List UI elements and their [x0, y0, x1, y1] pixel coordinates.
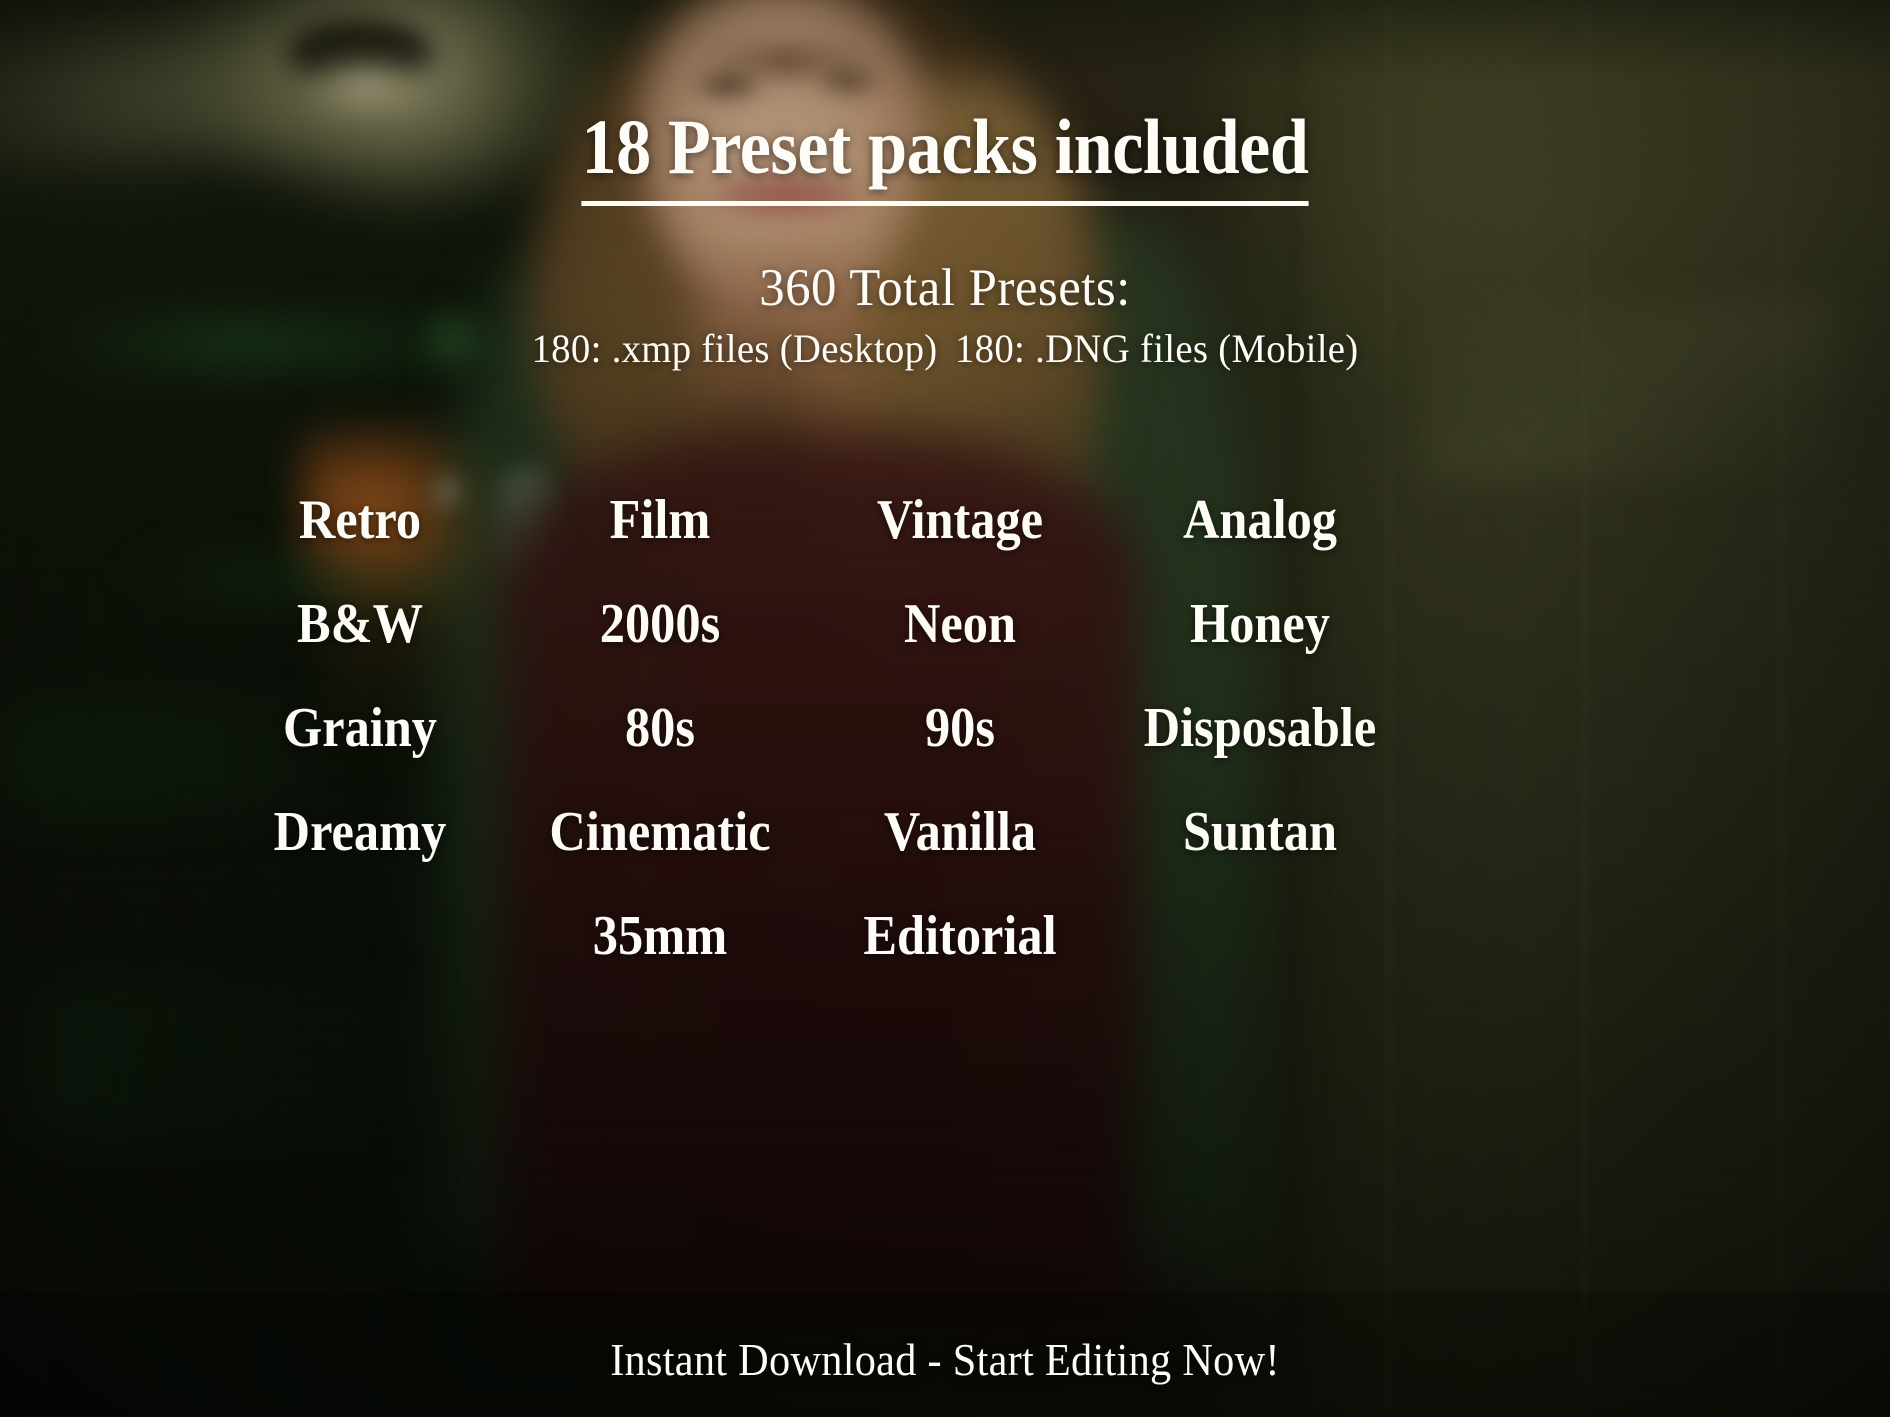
preset-name: 35mm: [525, 908, 795, 964]
preset-name: Suntan: [1125, 804, 1395, 860]
page-title: 18 Preset packs included: [95, 108, 1796, 186]
preset-name: 90s: [825, 700, 1095, 756]
preset-name: Dreamy: [225, 804, 495, 860]
preset-name: Honey: [1125, 596, 1395, 652]
preset-promo-slide: 18 Preset packs included 360 Total Prese…: [0, 0, 1890, 1417]
preset-row: Retro Film Vintage Analog: [210, 468, 1410, 572]
preset-name: 80s: [525, 700, 795, 756]
preset-row: Grainy 80s 90s Disposable: [210, 676, 1410, 780]
preset-name: Grainy: [225, 700, 495, 756]
preset-name: Vanilla: [825, 804, 1095, 860]
preset-name: B&W: [225, 596, 495, 652]
preset-name: Film: [525, 492, 795, 548]
preset-row: 35mm Editorial: [210, 884, 1410, 988]
preset-name: Disposable: [1125, 700, 1395, 756]
preset-name: Vintage: [825, 492, 1095, 548]
slide-content: 18 Preset packs included 360 Total Prese…: [0, 0, 1890, 1417]
desktop-files-label: 180: .xmp files (Desktop): [531, 326, 937, 371]
preset-name: Analog: [1125, 492, 1395, 548]
preset-row: B&W 2000s Neon Honey: [210, 572, 1410, 676]
file-types-line: 180: .xmp files (Desktop)180: .DNG files…: [28, 325, 1861, 372]
page-title-text: 18 Preset packs included: [581, 103, 1308, 206]
preset-name: Neon: [825, 596, 1095, 652]
preset-row: Dreamy Cinematic Vanilla Suntan: [210, 780, 1410, 884]
preset-name: 2000s: [525, 596, 795, 652]
preset-name: Cinematic: [525, 804, 795, 860]
mobile-files-label: 180: .DNG files (Mobile): [955, 326, 1359, 371]
footer-cta: Instant Download - Start Editing Now!: [76, 1333, 1815, 1386]
preset-pack-grid: Retro Film Vintage Analog B&W 2000s Neon…: [210, 468, 1410, 988]
total-presets-subhead: 360 Total Presets:: [38, 258, 1852, 318]
preset-name: Editorial: [825, 908, 1095, 964]
preset-name: Retro: [225, 492, 495, 548]
